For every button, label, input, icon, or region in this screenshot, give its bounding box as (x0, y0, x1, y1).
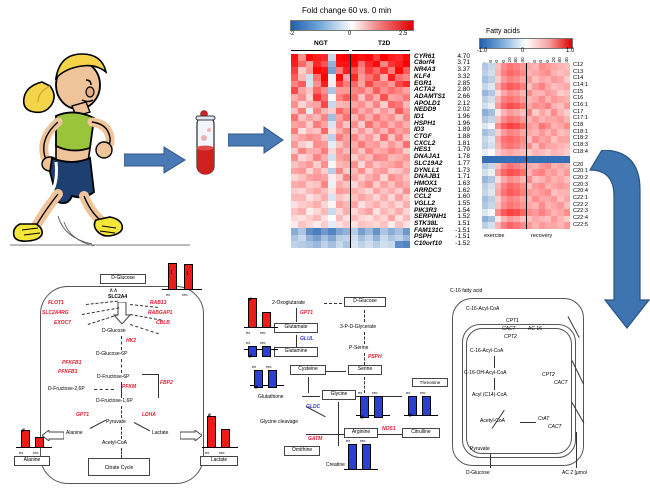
heatmap-cell (328, 194, 335, 201)
heatmap-cell (373, 194, 380, 201)
label-lactate: Lactate (152, 430, 168, 436)
fatty-acid-name: C12 (573, 62, 583, 68)
heatmap-cell (365, 134, 372, 141)
fatty-acid-name: C16 (573, 95, 583, 101)
heatmap-cell (321, 67, 328, 74)
heatmap-cell (395, 241, 402, 248)
heatmap-cell (336, 67, 343, 74)
phase-label-recovery: recovery (531, 233, 552, 239)
heatmap-cell (365, 161, 372, 168)
heatmap-cell (328, 188, 335, 195)
heatmap-cell (328, 168, 335, 175)
heatmap-cell (336, 87, 343, 94)
heatmap-cell (298, 194, 305, 201)
heatmap-cell (351, 141, 358, 148)
fa-heatmap-cell (564, 63, 570, 70)
heatmap-cell (313, 114, 320, 121)
fa-heatmap-cell (564, 202, 570, 209)
heatmap-cell (328, 181, 335, 188)
heatmap-cell (388, 215, 395, 222)
heatmap-cell (395, 174, 402, 181)
heatmap-cell (365, 235, 372, 242)
heatmap-cell (388, 241, 395, 248)
transporter-cact: CACT (502, 326, 516, 332)
heatmap-cell (336, 108, 343, 115)
mitochondria-panel: C-16 fatty acid C-16-Acyl-CoA CPT1 CACT … (444, 286, 644, 488)
heatmap-cell (380, 154, 387, 161)
heatmap-cell (380, 121, 387, 128)
node-c16-acyl-coa-out: C-16-Acyl-CoA (466, 306, 499, 312)
heatmap-cell (298, 121, 305, 128)
foldchange-mid-label: 0 (348, 31, 351, 37)
heatmap-cell (373, 94, 380, 101)
heatmap-cell (388, 194, 395, 201)
heatmap-cell (373, 61, 380, 68)
heatmap-cell (373, 141, 380, 148)
heatmap-cell (365, 101, 372, 108)
heatmap-cell (328, 54, 335, 61)
fa-heatmap-cell (564, 156, 570, 163)
heatmap-cell (403, 148, 410, 155)
heatmap-cell (403, 141, 410, 148)
heatmap-cell (321, 108, 328, 115)
bar-inset-glycine: ex rec # (356, 390, 390, 424)
heatmap-cell (358, 134, 365, 141)
heatmap-cell (358, 181, 365, 188)
heatmap-cell (328, 161, 335, 168)
group-label-ngt: NGT (314, 40, 328, 47)
heatmap-cell (291, 181, 298, 188)
heatmap-cell (298, 235, 305, 242)
heatmap-cell (306, 101, 313, 108)
fatty-acid-name: C14 (573, 75, 583, 81)
fa-heatmap-cell (564, 70, 570, 77)
heatmap-cell (373, 101, 380, 108)
heatmap-cell (306, 215, 313, 222)
fatty-acid-name: C17:1 (573, 115, 588, 121)
heatmap-cell (358, 215, 365, 222)
heatmap-cell (395, 128, 402, 135)
node-threonine: Threonine (412, 378, 448, 387)
heatmap-cell (365, 148, 372, 155)
heatmap-cell (291, 67, 298, 74)
heatmap-cell (298, 188, 305, 195)
fatty-acid-name: C16:1 (573, 102, 588, 108)
heatmap-cell (306, 201, 313, 208)
heatmap-cell (403, 161, 410, 168)
node-glutamine: Glutamine (274, 347, 318, 357)
heatmap-cell (395, 235, 402, 242)
heatmap-cell (373, 121, 380, 128)
heatmap-cell (373, 188, 380, 195)
heatmap-cell (298, 201, 305, 208)
heatmap-cell (373, 67, 380, 74)
heatmap-cell (380, 87, 387, 94)
node-c16-oh-acyl-coa: C-16-OH-Acyl-CoA (464, 370, 507, 376)
heatmap-cell (328, 148, 335, 155)
heatmap-cell (306, 208, 313, 215)
heatmap-cell (358, 128, 365, 135)
heatmap-cell (358, 74, 365, 81)
heatmap-cell (380, 215, 387, 222)
bar-inset-arginine: ex rec (344, 438, 378, 478)
heatmap-cell (373, 241, 380, 248)
heatmap-cell (395, 154, 402, 161)
heatmap-cell (291, 134, 298, 141)
heatmap-cell (321, 54, 328, 61)
node-acyl-c14-coa: Acyl (C14)-CoA (472, 392, 507, 398)
blood-tube-icon (188, 108, 222, 193)
heatmap-cell (358, 194, 365, 201)
heatmap-cell (351, 134, 358, 141)
fa-heatmap-cell (564, 176, 570, 183)
heatmap-cell (380, 181, 387, 188)
heatmap-cell (395, 215, 402, 222)
heatmap-cell (291, 215, 298, 222)
heatmap-cell (380, 61, 387, 68)
fa-heatmap-cell (564, 123, 570, 130)
heatmap-cell (306, 114, 313, 121)
node-g6p: D-Glucose-6P (96, 351, 127, 357)
heatmap-cell (388, 188, 395, 195)
heatmap-cell (298, 221, 305, 228)
heatmap-cell (321, 174, 328, 181)
heatmap-cell (313, 241, 320, 248)
heatmap-cell (321, 148, 328, 155)
heatmap-cell (291, 154, 298, 161)
heatmap-cell (298, 81, 305, 88)
heatmap-cell (291, 101, 298, 108)
heatmap-cell (351, 148, 358, 155)
heatmap-cell (306, 61, 313, 68)
heatmap-cell (365, 141, 372, 148)
fa-heatmap-cell (564, 83, 570, 90)
heatmap-cell (328, 121, 335, 128)
enzyme-nos1: NOS1 (382, 426, 396, 432)
heatmap-cell (336, 181, 343, 188)
fatty-acid-name: C18:1 (573, 129, 588, 135)
heatmap-cell (351, 188, 358, 195)
heatmap-cell (328, 228, 335, 235)
enzyme-flot1: FLOT1 (48, 300, 64, 306)
fa-heatmap-cell (564, 222, 570, 229)
runner-illustration (10, 30, 190, 255)
heatmap-cell (298, 141, 305, 148)
heatmap-cell (395, 221, 402, 228)
heatmap-cell (328, 134, 335, 141)
heatmap-cell (306, 188, 313, 195)
node-glycine: Glycine (322, 390, 356, 400)
heatmap-cell (358, 168, 365, 175)
heatmap-cell (336, 114, 343, 121)
heatmap-cell (298, 67, 305, 74)
heatmap-cell (358, 228, 365, 235)
heatmap-cell (380, 134, 387, 141)
heatmap-cell (403, 201, 410, 208)
heatmap-cell (388, 181, 395, 188)
heatmap-cell (388, 154, 395, 161)
heatmap-cell (395, 87, 402, 94)
heatmap-cell (291, 174, 298, 181)
heatmap-cell (380, 221, 387, 228)
heatmap-cell (306, 154, 313, 161)
heatmap-cell (395, 81, 402, 88)
heatmap-cell (358, 201, 365, 208)
transporter-cact-c: CACT (548, 424, 562, 430)
transporter-cpt1: CPT1 (506, 318, 519, 324)
heatmap-cell (291, 188, 298, 195)
heatmap-cell (351, 201, 358, 208)
heatmap-cell (388, 141, 395, 148)
heatmap-cell (395, 194, 402, 201)
heatmap-cell (380, 101, 387, 108)
heatmap-cell (403, 215, 410, 222)
heatmap-cell (351, 235, 358, 242)
heatmap-cell (321, 161, 328, 168)
fatty-acid-name: C15 (573, 89, 583, 95)
bar-inset-lactate: # ex rec (202, 410, 238, 456)
bar-inset-alanine: # ex rec (16, 420, 52, 456)
heatmap-cell (351, 168, 358, 175)
heatmap-cell (321, 114, 328, 121)
heatmap-cell (313, 61, 320, 68)
node-pserine: P-Serine (349, 345, 368, 351)
transporter-cpt2: CPT2 (504, 334, 517, 340)
heatmap-cell (298, 228, 305, 235)
heatmap-cell (313, 54, 320, 61)
heatmap-cell (388, 208, 395, 215)
heatmap-cell (358, 114, 365, 121)
fa-heatmap-cell (564, 196, 570, 203)
heatmap-cell (358, 241, 365, 248)
heatmap-cell (313, 228, 320, 235)
heatmap-cell (358, 161, 365, 168)
enzyme-psph: PSPH (368, 354, 382, 360)
fatty-acid-name: C18:2 (573, 135, 588, 141)
heatmap-cell (365, 174, 372, 181)
heatmap-cell (365, 121, 372, 128)
heatmap-cell (313, 201, 320, 208)
heatmap-cell (373, 154, 380, 161)
heatmap-cell (365, 221, 372, 228)
enzyme-pfkm: PFKM (122, 384, 136, 390)
heatmap-cell (403, 208, 410, 215)
heatmap-cell (403, 67, 410, 74)
heatmap-cell (388, 61, 395, 68)
heatmap-cell (373, 174, 380, 181)
heatmap-cell (306, 54, 313, 61)
heatmap-cell (373, 221, 380, 228)
heatmap-cell (306, 121, 313, 128)
heatmap-cell (388, 54, 395, 61)
heatmap-cell (380, 201, 387, 208)
heatmap-cell (351, 121, 358, 128)
heatmap-cell (291, 208, 298, 215)
fatty-acid-name: C13 (573, 69, 583, 75)
heatmap-cell (321, 188, 328, 195)
node-slc2a4: SLC2A4 (108, 294, 127, 300)
node-d-glucose-mito: D-Glucose (466, 470, 490, 476)
heatmap-cell (336, 81, 343, 88)
heatmap-cell (336, 174, 343, 181)
heatmap-cell (298, 168, 305, 175)
fa-heatmap-cell (564, 76, 570, 83)
fa-heatmap-cell (564, 183, 570, 190)
heatmap-cell (388, 174, 395, 181)
fa-heatmap-cell (564, 90, 570, 97)
fa-heatmap-cell (564, 129, 570, 136)
arrow-runner-to-sample (124, 145, 186, 180)
transporter-crat: CrAT (538, 416, 549, 422)
label-ac2-axis: AC 2 [µmol (562, 470, 587, 476)
heatmap-cell (336, 148, 343, 155)
bar-title-lactate: Lactate (200, 456, 238, 466)
heatmap-cell (321, 101, 328, 108)
heatmap-cell (403, 194, 410, 201)
heatmap-cell (321, 194, 328, 201)
heatmap-cell (291, 74, 298, 81)
heatmap-cell (336, 188, 343, 195)
heatmap-cell (358, 54, 365, 61)
heatmap-cell (380, 208, 387, 215)
heatmap-cell (403, 114, 410, 121)
heatmap-cell (403, 241, 410, 248)
heatmap-cell (351, 101, 358, 108)
heatmap-cell (328, 61, 335, 68)
heatmap-cell (298, 114, 305, 121)
heatmap-cell (365, 67, 372, 74)
heatmap-cell (380, 141, 387, 148)
heatmap-cell (365, 215, 372, 222)
heatmap-cell (306, 174, 313, 181)
heatmap-cell (321, 221, 328, 228)
phase-label-exercise: exercise (484, 233, 504, 239)
heatmap-cell (380, 54, 387, 61)
heatmap-cell (395, 61, 402, 68)
heatmap-cell (365, 94, 372, 101)
heatmap-cell (306, 67, 313, 74)
heatmap-cell (373, 215, 380, 222)
heatmap-cell (328, 114, 335, 121)
enzyme-ldha: LDHA (142, 412, 156, 418)
heatmap-cell (358, 154, 365, 161)
heatmap-cell (403, 54, 410, 61)
heatmap-cell (358, 141, 365, 148)
heatmap-cell (351, 208, 358, 215)
fa-phase-divider (526, 63, 527, 229)
heatmap-cell (321, 87, 328, 94)
node-serine: Serine (348, 365, 382, 375)
heatmap-cell (380, 161, 387, 168)
heatmap-cell (313, 154, 320, 161)
heatmap-cell (321, 154, 328, 161)
heatmap-cell (373, 161, 380, 168)
heatmap-cell (328, 94, 335, 101)
heatmap-cell (336, 161, 343, 168)
heatmap-cell (351, 87, 358, 94)
heatmap-cell (395, 94, 402, 101)
heatmap-cell (373, 201, 380, 208)
heatmap-cell (365, 61, 372, 68)
heatmap-cell (298, 54, 305, 61)
fa-heatmap-cell (564, 103, 570, 110)
node-f6p: D-Fructose-6P (97, 374, 130, 380)
heatmap-cell (291, 108, 298, 115)
heatmap-cell (351, 154, 358, 161)
fattyacids-colorbar (479, 38, 573, 49)
heatmap-cell (313, 221, 320, 228)
heatmap-cell (351, 161, 358, 168)
node-citrulline: Citrulline (402, 428, 440, 438)
heatmap-cell (380, 114, 387, 121)
label-alanine: Alanine (66, 430, 83, 436)
transporter-cpt2-b: CPT2 (542, 372, 555, 378)
foldchange-title: Fold change 60 vs. 0 min (302, 6, 391, 15)
heatmap-cell (351, 94, 358, 101)
heatmap-cell (291, 61, 298, 68)
heatmap-cell (321, 168, 328, 175)
heatmap-cell (403, 94, 410, 101)
heatmap-cell (365, 188, 372, 195)
heatmap-cell (291, 128, 298, 135)
heatmap-cell (380, 228, 387, 235)
heatmap-cell (358, 188, 365, 195)
heatmap-cell (373, 74, 380, 81)
heatmap-cell (351, 81, 358, 88)
heatmap-cell (313, 194, 320, 201)
heatmap-cell (395, 141, 402, 148)
heatmap-cell (321, 128, 328, 135)
heatmap-cell (395, 108, 402, 115)
heatmap-cell (403, 121, 410, 128)
heatmap-cell (313, 108, 320, 115)
heatmap-cell (336, 201, 343, 208)
heatmap-cell (403, 128, 410, 135)
heatmap-cell (403, 235, 410, 242)
heatmap-cell (395, 168, 402, 175)
heatmap-cell (313, 81, 320, 88)
heatmap-cell (321, 121, 328, 128)
bar-inset-glutamine: ex rec # (244, 340, 278, 364)
heatmap-cell (403, 134, 410, 141)
heatmap-cell (365, 81, 372, 88)
heatmap-cell (291, 221, 298, 228)
node-glutamate: Glutamate (274, 323, 318, 333)
heatmap-cell (358, 81, 365, 88)
heatmap-cell (358, 108, 365, 115)
heatmap-cell (403, 87, 410, 94)
heatmap-cell (403, 228, 410, 235)
group-underline-t2d (352, 50, 410, 51)
heatmap-cell (358, 61, 365, 68)
heatmap-cell (388, 228, 395, 235)
bar-inset-glutamate: # ex rec (244, 294, 278, 336)
heatmap-cell (306, 221, 313, 228)
heatmap-cell (291, 54, 298, 61)
heatmap-cell (313, 181, 320, 188)
heatmap-cell (306, 181, 313, 188)
heatmap-cell (328, 241, 335, 248)
bar-inset-threonine: ex rec # (404, 390, 438, 424)
arrow-sample-to-heatmap (228, 126, 284, 159)
heatmap-cell (291, 114, 298, 121)
node-ornithine: Ornithine (284, 446, 320, 456)
heatmap-cell (380, 128, 387, 135)
heatmap-cell (358, 235, 365, 242)
heatmap-cell (298, 74, 305, 81)
node-c16-acyl-coa-in: C-16-Acyl-CoA (470, 348, 503, 354)
heatmap-cell (313, 235, 320, 242)
